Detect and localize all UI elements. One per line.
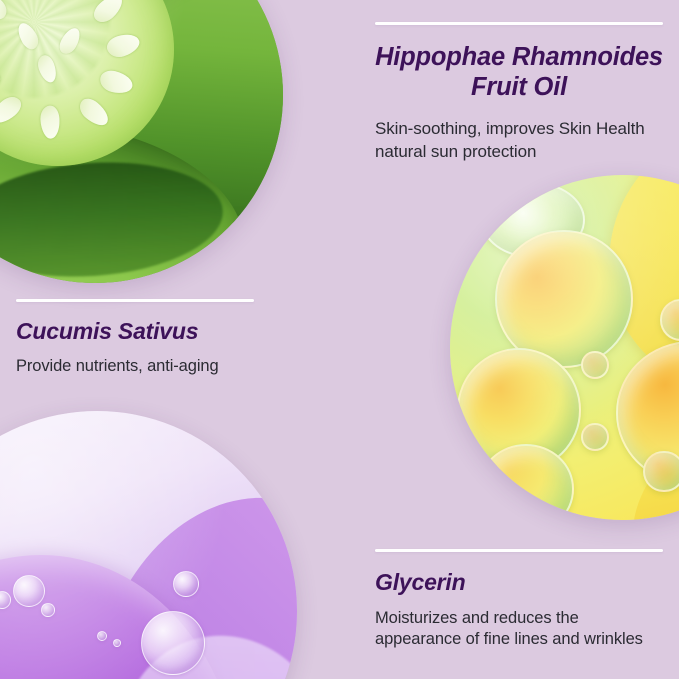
divider-rule — [375, 549, 663, 552]
oil-bubbles-photo — [450, 175, 679, 520]
infographic-canvas: Hippophae Rhamnoides Fruit Oil Skin-soot… — [0, 0, 679, 679]
oil-droplet — [581, 423, 609, 451]
ingredient-description-line: Moisturizes and reduces the — [375, 608, 663, 630]
ingredient-description-line: natural sun protection — [375, 141, 663, 163]
cucumber-photo — [0, 0, 283, 283]
ingredient-description-line: appearance of fine lines and wrinkles — [375, 629, 663, 651]
oil-droplet — [643, 451, 679, 492]
ingredient-heading: Cucumis Sativus — [16, 318, 254, 345]
ingredient-description: Skin-soothing, improves Skin Health natu… — [375, 118, 663, 163]
ingredient-description: Moisturizes and reduces the appearance o… — [375, 608, 663, 652]
ingredient-block-hippophae: Hippophae Rhamnoides Fruit Oil Skin-soot… — [375, 22, 663, 163]
serum-bubble — [113, 639, 121, 647]
ingredient-block-cucumis: Cucumis Sativus Provide nutrients, anti-… — [16, 299, 254, 377]
cucumber-highlight — [0, 0, 283, 283]
serum-bubble — [173, 571, 199, 597]
ingredient-description: Provide nutrients, anti-aging — [16, 356, 254, 378]
ingredient-description-line: Provide nutrients, anti-aging — [16, 356, 254, 378]
ingredient-block-glycerin: Glycerin Moisturizes and reduces the app… — [375, 549, 663, 651]
serum-bubble — [41, 603, 55, 617]
oil-droplet — [581, 351, 609, 379]
divider-rule — [375, 22, 663, 25]
ingredient-heading: Glycerin — [375, 569, 663, 596]
ingredient-heading: Hippophae Rhamnoides Fruit Oil — [375, 43, 663, 102]
divider-rule — [16, 299, 254, 302]
serum-bubble — [141, 611, 205, 675]
serum-bubble — [13, 575, 45, 607]
ingredient-description-line: Skin-soothing, improves Skin Health — [375, 118, 663, 140]
purple-serum-photo — [0, 411, 297, 679]
